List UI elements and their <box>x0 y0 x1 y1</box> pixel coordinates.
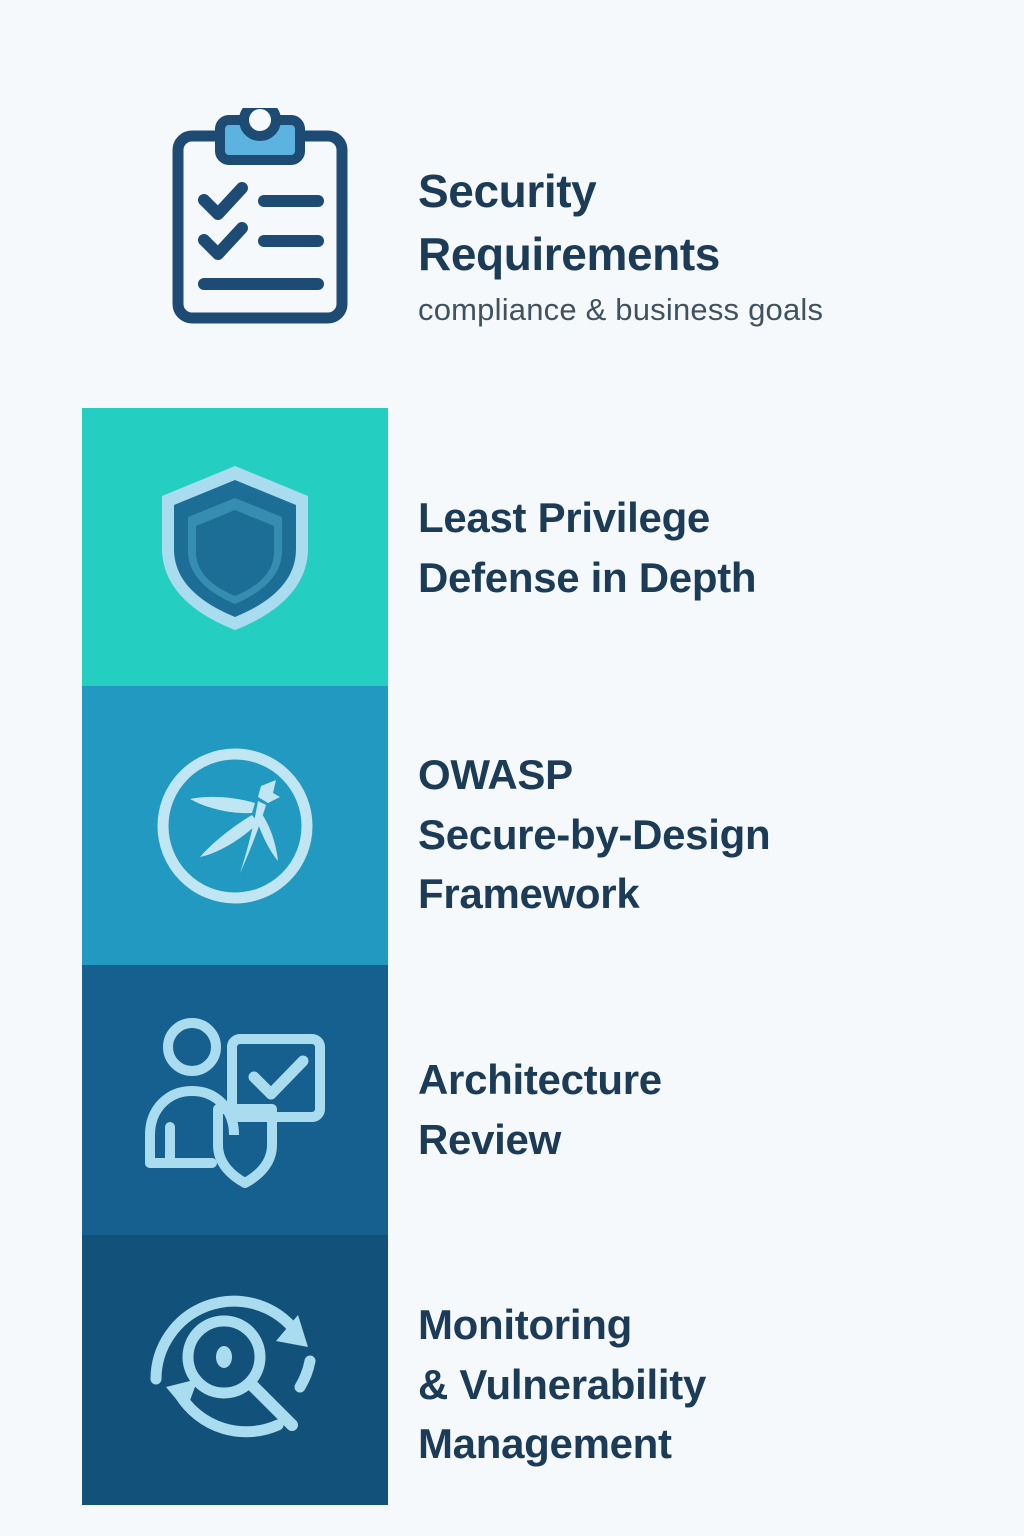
band-monitoring <box>82 1235 388 1505</box>
clipboard-checklist-icon <box>168 108 352 328</box>
person-review-shield-icon <box>140 1005 330 1195</box>
row-label-least-privilege: Least Privilege Defense in Depth <box>418 488 998 607</box>
row-label-monitoring: Monitoring & Vulnerability Management <box>418 1295 998 1474</box>
row-label-architecture-review: Architecture Review <box>418 1050 998 1169</box>
band-column <box>82 408 388 1505</box>
band-least-privilege <box>82 408 388 686</box>
magnifier-refresh-icon <box>140 1275 330 1465</box>
header-text-block: Security Requirements compliance & busin… <box>418 160 978 330</box>
shield-icon <box>140 452 330 642</box>
band-owasp <box>82 686 388 965</box>
page-subtitle: compliance & business goals <box>418 291 978 330</box>
header: Security Requirements compliance & busin… <box>0 0 1024 408</box>
page-title: Security Requirements <box>418 160 978 287</box>
owasp-dragonfly-icon <box>140 731 330 921</box>
row-label-owasp: OWASP Secure-by-Design Framework <box>418 745 998 924</box>
band-architecture-review <box>82 965 388 1235</box>
